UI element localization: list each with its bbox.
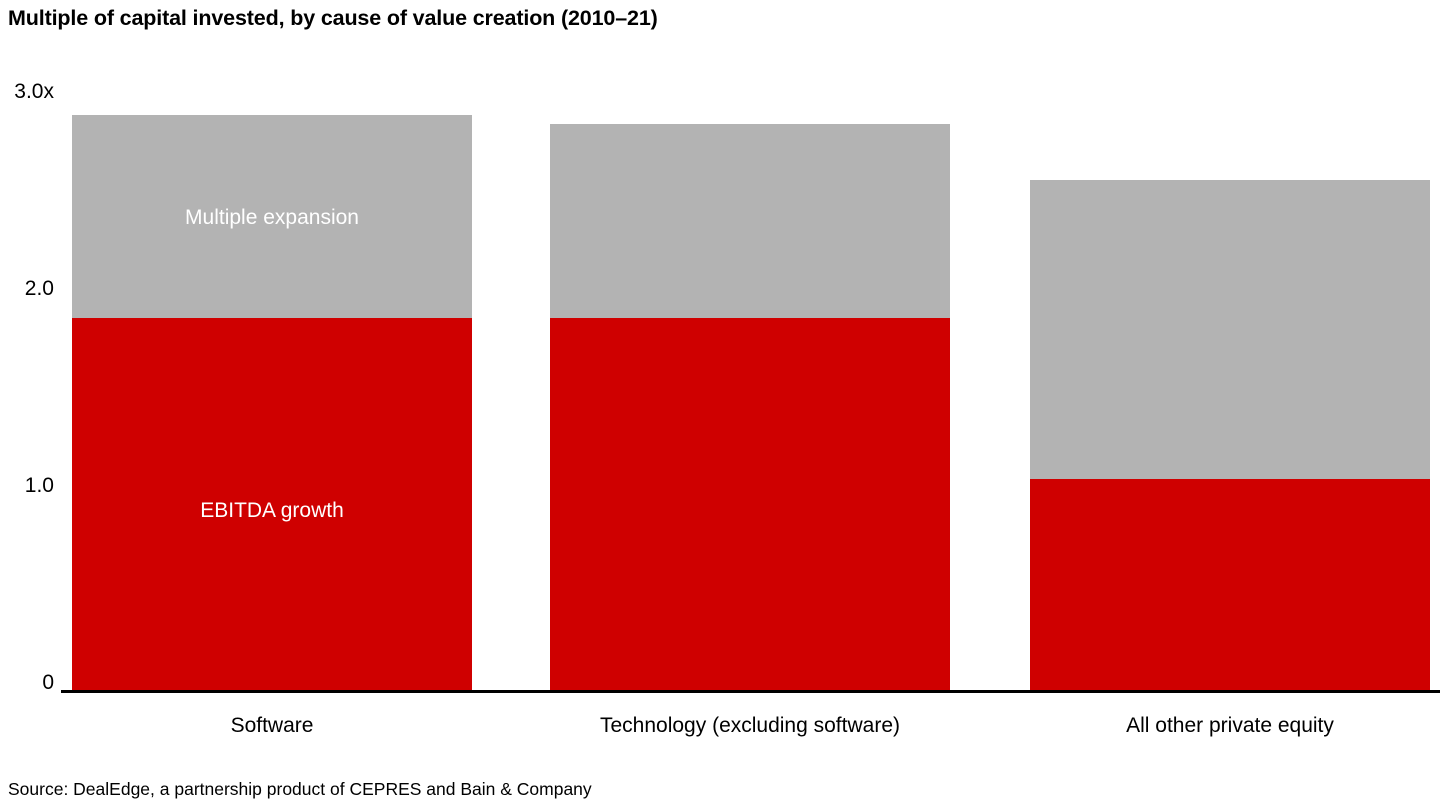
- chart-plot-area: 3.0x 2.0 1.0 0 Multiple expansion EBITDA…: [0, 0, 1440, 810]
- y-axis-tick-3: 3.0x: [0, 80, 54, 104]
- source-note: Source: DealEdge, a partnership product …: [8, 779, 592, 800]
- x-axis-category-label-all-other-private-equity: All other private equity: [1030, 714, 1430, 738]
- x-axis-category-label-software: Software: [72, 714, 472, 738]
- in-bar-label-ebitda-growth: EBITDA growth: [72, 499, 472, 523]
- in-bar-label-multiple-expansion: Multiple expansion: [72, 206, 472, 230]
- bar-all-other-private-equity[interactable]: [1030, 180, 1430, 690]
- bar-segment-ebitda-growth[interactable]: EBITDA growth: [72, 318, 472, 690]
- x-axis-baseline: [61, 690, 1440, 693]
- x-axis-category-label-technology: Technology (excluding software): [550, 714, 950, 738]
- y-axis-tick-1: 1.0: [0, 474, 54, 498]
- bar-segment-multiple-expansion[interactable]: Multiple expansion: [72, 115, 472, 318]
- bar-segment-ebitda-growth[interactable]: [1030, 479, 1430, 690]
- bar-segment-multiple-expansion[interactable]: [1030, 180, 1430, 479]
- bar-segment-multiple-expansion[interactable]: [550, 124, 950, 318]
- y-axis-tick-2: 2.0: [0, 277, 54, 301]
- bar-segment-ebitda-growth[interactable]: [550, 318, 950, 690]
- y-axis-tick-0: 0: [0, 671, 54, 695]
- bar-technology-excluding-software[interactable]: [550, 124, 950, 690]
- bar-software[interactable]: Multiple expansion EBITDA growth: [72, 115, 472, 690]
